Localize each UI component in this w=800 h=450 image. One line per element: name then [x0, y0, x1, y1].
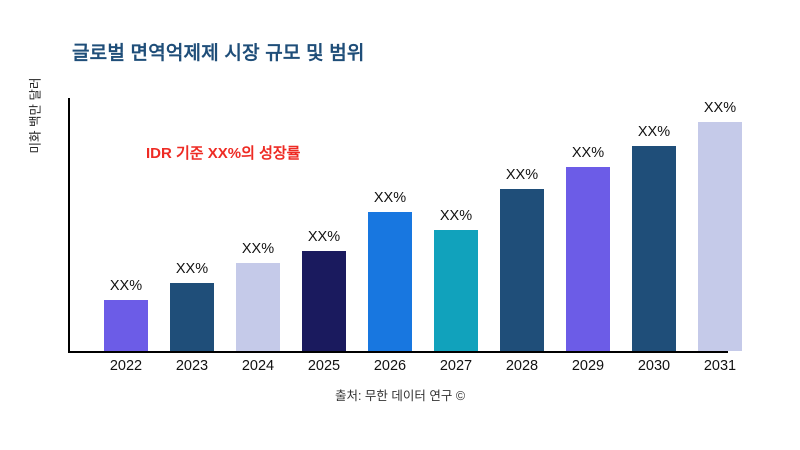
page-title: 글로벌 면역억제제 시장 규모 및 범위 — [72, 38, 365, 65]
bar[interactable] — [104, 300, 148, 351]
bar[interactable] — [698, 122, 742, 351]
bar-value-label: XX% — [176, 261, 208, 277]
bar-value-label: XX% — [110, 278, 142, 294]
x-tick-2031: 2031 — [680, 358, 760, 374]
plot-area: XX% XX% XX% XX% XX% XX% XX% XX% — [68, 98, 782, 353]
bar-group-2022[interactable]: XX% — [104, 300, 148, 351]
bar-value-label: XX% — [572, 145, 604, 161]
bar-value-label: XX% — [704, 100, 736, 116]
growth-rate-annotation: IDR 기준 XX%의 성장률 — [146, 142, 300, 163]
x-axis-line — [68, 351, 728, 353]
y-axis-line — [68, 98, 70, 353]
bar-group-2024[interactable]: XX% — [236, 263, 280, 351]
bar-value-label: XX% — [242, 241, 274, 257]
bar-value-label: XX% — [308, 229, 340, 245]
bar-value-label: XX% — [638, 124, 670, 140]
bar-group-2023[interactable]: XX% — [170, 283, 214, 351]
bar-group-2026[interactable]: XX% — [368, 212, 412, 351]
bar[interactable] — [434, 230, 478, 351]
bar-group-2031[interactable]: XX% — [698, 122, 742, 351]
chart-page: 글로벌 면역억제제 시장 규모 및 범위 미화 백만 달러 XX% XX% XX… — [0, 0, 800, 450]
bar-group-2028[interactable]: XX% — [500, 189, 544, 351]
bar[interactable] — [566, 167, 610, 351]
bar[interactable] — [170, 283, 214, 351]
bar[interactable] — [302, 251, 346, 351]
source-note: 출처: 무한 데이터 연구 © — [0, 385, 800, 404]
bar[interactable] — [500, 189, 544, 351]
bar-group-2030[interactable]: XX% — [632, 146, 676, 351]
bar[interactable] — [236, 263, 280, 351]
bar-value-label: XX% — [440, 208, 472, 224]
y-axis-label: 미화 백만 달러 — [25, 56, 44, 176]
bar-value-label: XX% — [374, 190, 406, 206]
bar-value-label: XX% — [506, 167, 538, 183]
bar-group-2025[interactable]: XX% — [302, 251, 346, 351]
bar-group-2029[interactable]: XX% — [566, 167, 610, 351]
bar[interactable] — [632, 146, 676, 351]
bar-group-2027[interactable]: XX% — [434, 230, 478, 351]
bar[interactable] — [368, 212, 412, 351]
